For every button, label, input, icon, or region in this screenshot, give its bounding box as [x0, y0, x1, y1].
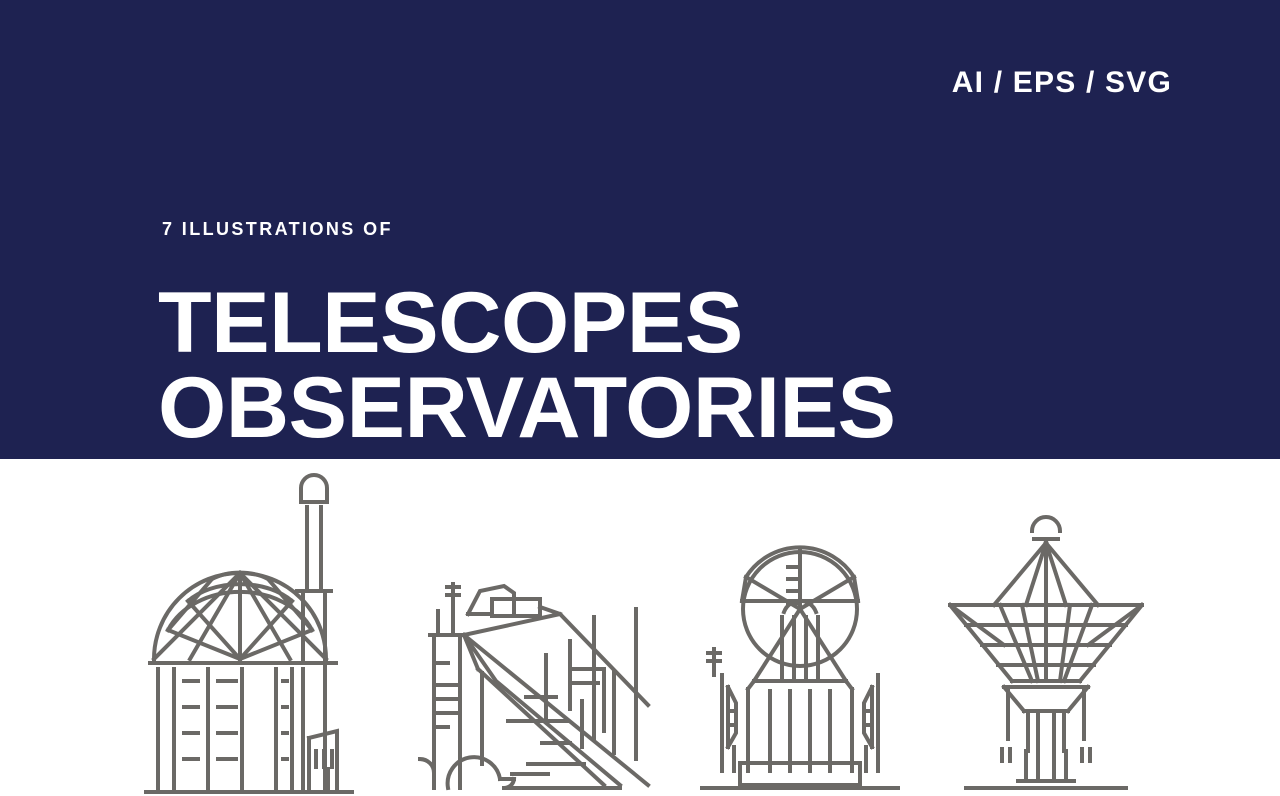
illustration-radio-telescope-dish[interactable] — [948, 459, 1144, 796]
illustration-inclined-telescope-structure[interactable] — [408, 459, 658, 796]
hero-panel: AI / EPS / SVG 7 ILLUSTRATIONS OF TELESC… — [0, 0, 1280, 459]
illustration-strip — [0, 459, 1280, 796]
illustration-open-shutter-dome-telescope[interactable] — [700, 459, 900, 796]
illustration-pack-cover: AI / EPS / SVG 7 ILLUSTRATIONS OF TELESC… — [0, 0, 1280, 796]
page-title-line-2: OBSERVATORIES — [158, 366, 896, 451]
eyebrow-text: 7 ILLUSTRATIONS OF — [162, 219, 393, 240]
file-format-badge: AI / EPS / SVG — [952, 66, 1172, 100]
page-title: TELESCOPES OBSERVATORIES — [158, 281, 881, 451]
page-title-line-1: TELESCOPES — [158, 281, 896, 366]
illustration-geodesic-dome-observatory[interactable] — [140, 459, 370, 796]
